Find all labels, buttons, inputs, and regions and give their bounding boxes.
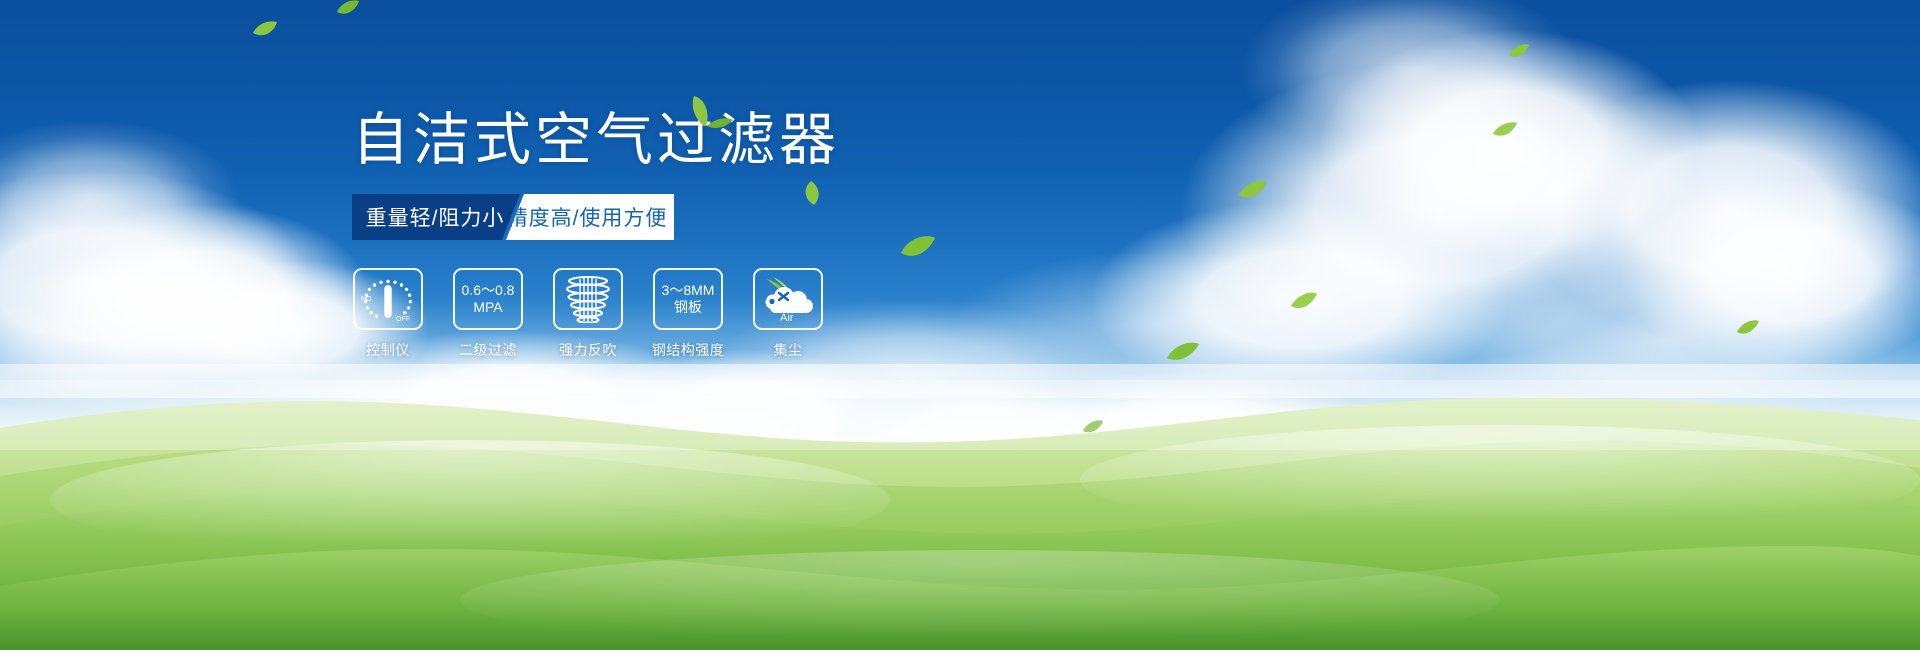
hero-banner: 自洁式空气过滤器 重量轻/阻力小 精度高/使用方便 — [0, 0, 1920, 650]
steel-value-line1: 3～8MM — [662, 282, 715, 299]
dial-on-label: NO — [361, 296, 372, 303]
floating-leaf-icon — [1238, 180, 1268, 202]
feature-caption-pressure: 二级过滤 — [459, 340, 517, 360]
feature-box-blowback — [553, 268, 623, 330]
feature-item-dust[interactable]: Air 集尘 — [752, 268, 824, 360]
feature-caption-dust: 集尘 — [774, 340, 803, 360]
steel-value-line2: 钢板 — [674, 299, 702, 316]
grass-field — [0, 350, 1920, 650]
feature-box-pressure: 0.6～0.8 MPA — [453, 268, 523, 330]
dial-off-label: OFF — [396, 316, 410, 323]
control-dial-icon: NO OFF — [360, 274, 416, 324]
cloud-right-6 — [1620, 180, 1920, 370]
feature-caption-control: 控制仪 — [366, 340, 410, 360]
pleated-filter-icon — [565, 275, 611, 323]
feature-caption-blowback: 强力反吹 — [559, 340, 617, 360]
floating-leaf-icon — [336, 0, 360, 18]
floating-leaf-icon — [252, 20, 278, 40]
cloud-right-5 — [1240, 0, 1580, 160]
pressure-value-line2: MPA — [473, 299, 502, 316]
feature-box-control: NO OFF — [353, 268, 423, 330]
tag-feature-1[interactable]: 重量轻/阻力小 — [352, 194, 520, 240]
feature-item-steel[interactable]: 3～8MM 钢板 钢结构强度 — [652, 268, 724, 360]
air-label: Air — [780, 312, 794, 323]
feature-list: NO OFF 控制仪 0.6～0.8 MPA 二级过滤 — [352, 268, 824, 360]
feature-box-steel: 3～8MM 钢板 — [653, 268, 723, 330]
floating-leaf-icon — [1736, 320, 1760, 338]
floating-leaf-icon — [1492, 122, 1518, 140]
cloud-right-2 — [1320, 30, 1700, 260]
tag-group: 重量轻/阻力小 精度高/使用方便 — [352, 194, 674, 240]
floating-leaf-icon — [1290, 292, 1318, 312]
cloud-right-3 — [1520, 80, 1920, 340]
feature-item-control[interactable]: NO OFF 控制仪 — [352, 268, 424, 360]
floating-leaf-icon — [1508, 44, 1530, 61]
title-leaf-icon — [680, 92, 734, 128]
cloud-right-1 — [1180, 60, 1700, 360]
tag-feature-2[interactable]: 精度高/使用方便 — [506, 194, 674, 240]
feature-box-dust: Air — [753, 268, 823, 330]
feature-item-pressure[interactable]: 0.6～0.8 MPA 二级过滤 — [452, 268, 524, 360]
feature-item-blowback[interactable]: 强力反吹 — [552, 268, 624, 360]
cloud-left-3 — [0, 120, 240, 280]
feature-caption-steel: 钢结构强度 — [652, 340, 725, 360]
pressure-value-line1: 0.6～0.8 — [462, 282, 515, 299]
cloud-air-icon: Air — [759, 275, 817, 323]
